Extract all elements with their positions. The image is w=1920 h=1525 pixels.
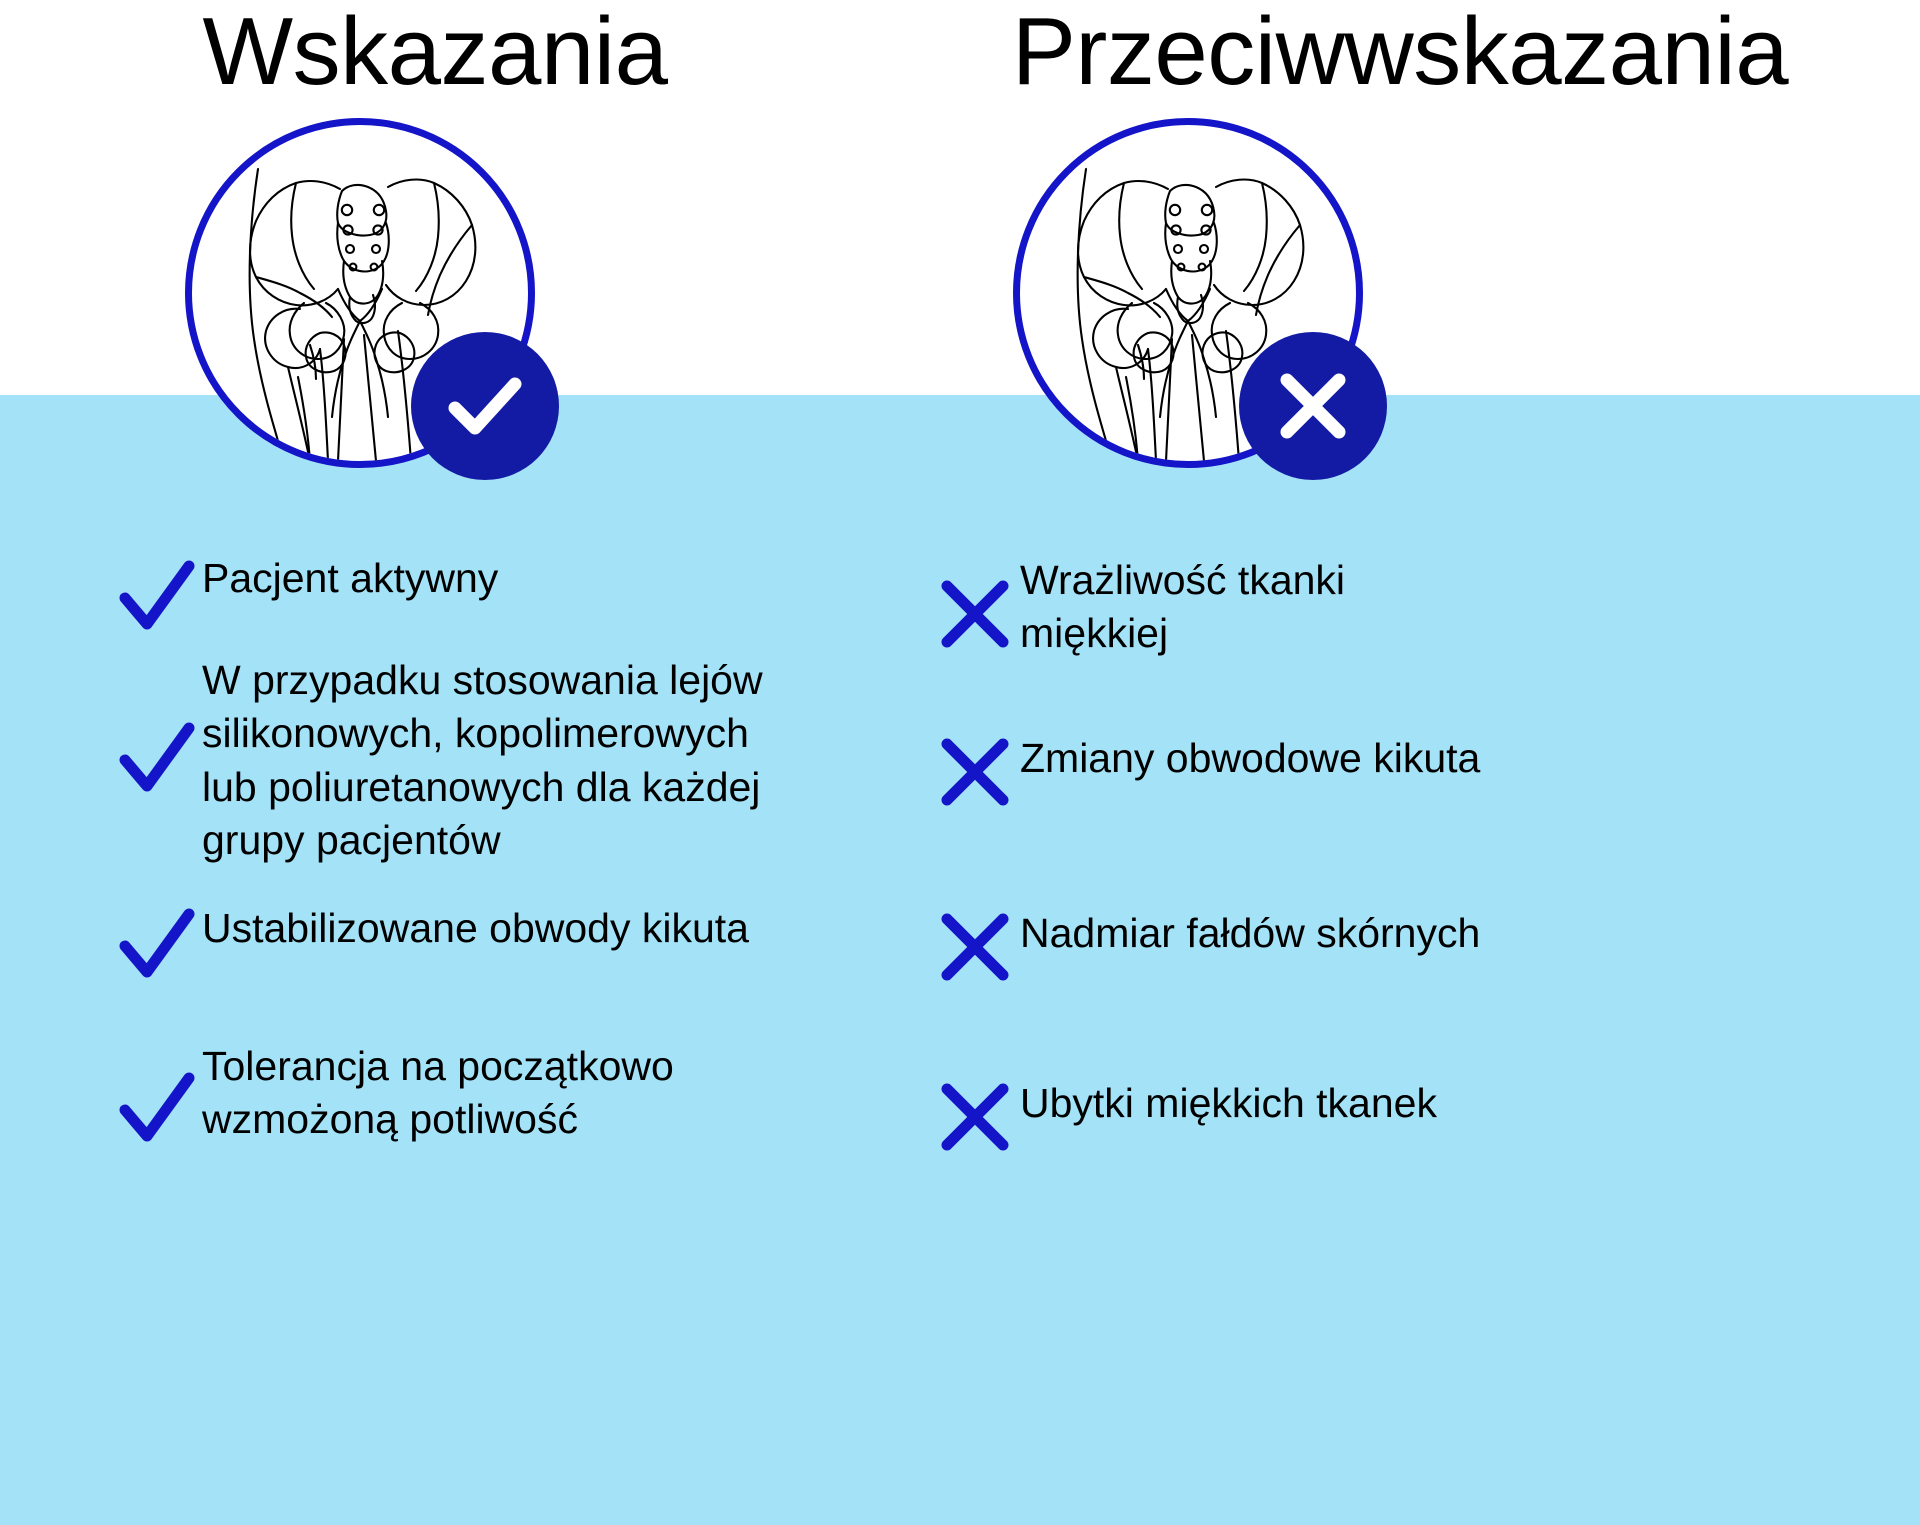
list-item: Nadmiar fałdów skórnych — [930, 905, 1480, 987]
contraindications-medallion — [1013, 118, 1363, 468]
check-icon — [112, 1038, 202, 1152]
cross-icon — [930, 552, 1020, 654]
cross-icon — [1267, 360, 1359, 452]
list-item-label: Nadmiar fałdów skórnych — [1020, 905, 1480, 960]
list-item-label: Tolerancja na początkowo wzmożoną potliw… — [202, 1038, 674, 1147]
list-item: Zmiany obwodowe kikuta — [930, 730, 1480, 812]
check-badge — [411, 332, 559, 480]
list-item: Ubytki miękkich tkanek — [930, 1075, 1437, 1157]
cross-icon — [930, 905, 1020, 987]
list-item: Wrażliwość tkanki miękkiej — [930, 552, 1345, 661]
cross-icon — [930, 730, 1020, 812]
cross-icon — [930, 1075, 1020, 1157]
list-item: Tolerancja na początkowo wzmożoną potliw… — [112, 1038, 674, 1152]
cross-badge — [1239, 332, 1387, 480]
list-item: Pacjent aktywny — [112, 550, 498, 640]
check-icon — [112, 900, 202, 988]
list-item: Ustabilizowane obwody kikuta — [112, 900, 749, 988]
check-icon — [112, 550, 202, 640]
list-item-label: W przypadku stosowania lejów silikonowyc… — [202, 652, 763, 867]
list-item-label: Pacjent aktywny — [202, 550, 498, 605]
page-title-indications: Wskazania — [0, 4, 870, 100]
list-item-label: Ubytki miękkich tkanek — [1020, 1075, 1437, 1130]
list-item-label: Ustabilizowane obwody kikuta — [202, 900, 749, 955]
list-item-label: Zmiany obwodowe kikuta — [1020, 730, 1480, 785]
check-icon — [112, 652, 202, 802]
list-item-label: Wrażliwość tkanki miękkiej — [1020, 552, 1345, 661]
page-title-contraindications: Przeciwwskazania — [880, 4, 1920, 100]
indications-medallion — [185, 118, 535, 468]
list-item: W przypadku stosowania lejów silikonowyc… — [112, 652, 763, 867]
check-icon — [439, 360, 531, 452]
infographic-page: Wskazania — [0, 0, 1920, 1525]
